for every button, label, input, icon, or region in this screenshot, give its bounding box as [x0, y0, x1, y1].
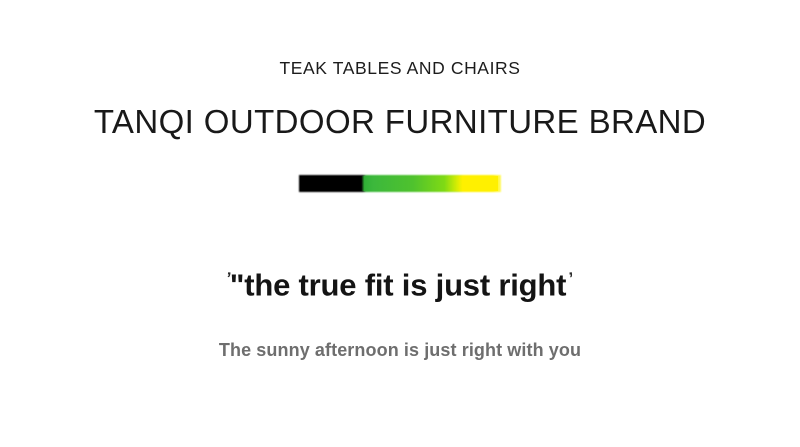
brand-banner: TEAK TABLES AND CHAIRS TANQI OUTDOOR FUR… — [0, 0, 800, 447]
pull-quote: ’"the true fit is just right’ — [0, 262, 800, 313]
quote-close-mark-icon: ’ — [567, 257, 576, 301]
pull-quote-text: "the true fit is just right — [230, 267, 567, 302]
gradient-divider-bar — [300, 176, 498, 191]
page-title: TANQI OUTDOOR FURNITURE BRAND — [0, 101, 800, 143]
gradient-divider — [299, 175, 501, 192]
eyebrow-text: TEAK TABLES AND CHAIRS — [0, 56, 800, 80]
tagline-text: The sunny afternoon is just right with y… — [0, 337, 800, 363]
